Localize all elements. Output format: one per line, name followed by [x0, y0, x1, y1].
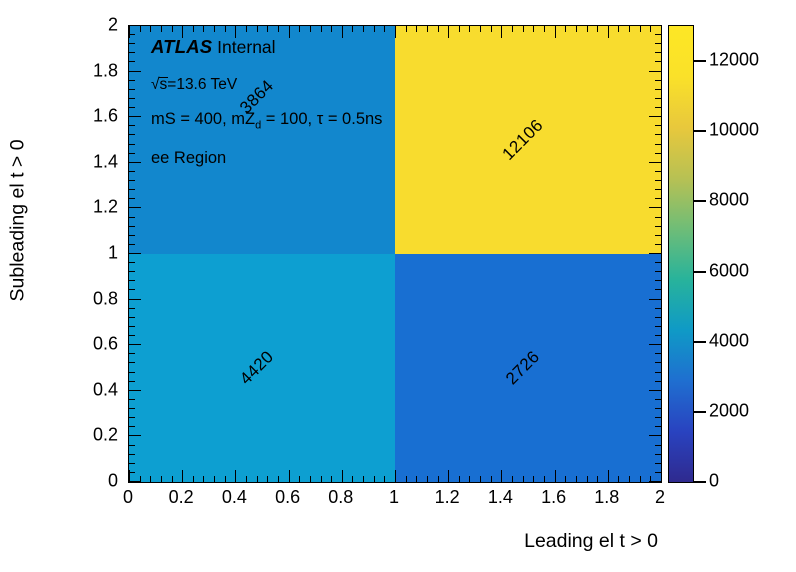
tick-mark	[129, 390, 141, 391]
tick-mark	[480, 26, 481, 32]
tick-mark	[129, 26, 130, 38]
tick-mark	[533, 26, 534, 32]
tick-mark	[129, 180, 135, 181]
tick-mark	[618, 26, 619, 32]
tick-mark	[129, 34, 135, 35]
x-tick-label: 1	[389, 487, 399, 508]
tick-mark	[655, 198, 661, 199]
tick-mark	[129, 308, 135, 309]
tick-mark	[565, 476, 566, 482]
tick-mark	[416, 26, 417, 32]
colorbar-tick-label: 8000	[709, 190, 749, 211]
tick-mark	[129, 435, 141, 436]
tick-mark	[225, 476, 226, 482]
tick-mark	[129, 417, 135, 418]
y-tick-label: 0.4	[0, 379, 118, 400]
x-tick-label: 0.4	[222, 487, 247, 508]
tick-mark	[655, 372, 661, 373]
x-tick-label: 1.2	[435, 487, 460, 508]
tick-mark	[618, 476, 619, 482]
x-tick-label: 1.8	[594, 487, 619, 508]
tick-mark	[655, 134, 661, 135]
tick-mark	[655, 226, 661, 227]
tick-mark	[374, 26, 375, 32]
tick-mark	[469, 476, 470, 482]
tick-mark	[129, 362, 135, 363]
tick-mark	[655, 399, 661, 400]
tick-mark	[150, 476, 151, 482]
tick-mark	[193, 26, 194, 32]
tick-mark	[597, 476, 598, 482]
y-tick-label: 0.6	[0, 334, 118, 355]
tick-mark	[576, 26, 577, 32]
tick-mark	[406, 26, 407, 32]
tick-mark	[649, 435, 661, 436]
tick-mark	[649, 207, 661, 208]
tick-mark	[310, 476, 311, 482]
tick-mark	[655, 335, 661, 336]
tick-mark	[129, 134, 135, 135]
tick-mark	[182, 26, 183, 38]
tick-mark	[321, 476, 322, 482]
tick-mark	[655, 125, 661, 126]
tick-mark	[129, 153, 135, 154]
tick-mark	[427, 476, 428, 482]
tick-mark	[655, 80, 661, 81]
tick-mark	[129, 372, 135, 373]
tick-mark	[150, 26, 151, 32]
tick-mark	[649, 71, 661, 72]
heatmap-cell-value: 4420	[236, 347, 278, 389]
tick-mark	[655, 34, 661, 35]
tick-mark	[655, 89, 661, 90]
tick-mark	[649, 344, 661, 345]
tick-mark	[501, 470, 502, 482]
colorbar-tick-mark	[694, 481, 706, 483]
tick-mark	[129, 289, 135, 290]
tick-mark	[310, 26, 311, 32]
tick-mark	[235, 26, 236, 38]
tick-mark	[512, 476, 513, 482]
tick-mark	[267, 476, 268, 482]
region-label: ee Region	[151, 150, 451, 167]
tick-mark	[587, 26, 588, 32]
tick-mark	[129, 207, 141, 208]
atlas-internal-text: Internal	[217, 37, 275, 57]
tick-mark	[363, 26, 364, 32]
tick-mark	[172, 476, 173, 482]
tick-mark	[129, 463, 135, 464]
sqrt-icon: √s	[151, 76, 167, 93]
energy-label: √s=13.6 TeV	[151, 76, 451, 93]
tick-mark	[655, 445, 661, 446]
colorbar-tick-mark	[694, 200, 706, 202]
tick-mark	[629, 476, 630, 482]
tick-mark	[655, 144, 661, 145]
plot-frame: 3864 12106 4420 2726 ATLAS Internal √s=1…	[128, 25, 662, 483]
tick-mark	[129, 71, 141, 72]
tick-mark	[655, 43, 661, 44]
energy-value: =13.6 TeV	[167, 76, 237, 93]
tick-mark	[129, 226, 135, 227]
tick-mark	[640, 476, 641, 482]
tick-mark	[523, 476, 524, 482]
tick-mark	[129, 217, 135, 218]
tick-mark	[655, 417, 661, 418]
tick-mark	[459, 26, 460, 32]
heatmap-cell-bottom-left[interactable]: 4420	[129, 254, 395, 482]
tick-mark	[655, 463, 661, 464]
tick-mark	[129, 198, 135, 199]
tick-mark	[129, 80, 135, 81]
tick-mark	[395, 26, 396, 38]
tick-mark	[257, 476, 258, 482]
tick-mark	[655, 180, 661, 181]
tick-mark	[655, 308, 661, 309]
colorbar-tick-label: 0	[709, 471, 719, 492]
region-text: ee Region	[151, 149, 226, 167]
tick-mark	[655, 61, 661, 62]
tick-mark	[129, 299, 141, 300]
heatmap-cell-value: 2726	[502, 347, 544, 389]
tick-mark	[655, 362, 661, 363]
y-tick-label: 0.2	[0, 425, 118, 446]
tick-mark	[363, 476, 364, 482]
params-equals-text: = 100,	[261, 110, 317, 128]
colorbar-tick-mark	[694, 130, 706, 132]
tick-mark	[129, 335, 135, 336]
atlas-bold-text: ATLAS	[151, 36, 212, 57]
tick-mark	[406, 476, 407, 482]
tick-mark	[427, 26, 428, 32]
tick-mark	[459, 476, 460, 482]
tick-mark	[161, 476, 162, 482]
tick-mark	[129, 472, 135, 473]
tick-mark	[555, 470, 556, 482]
tick-mark	[331, 26, 332, 32]
tick-mark	[555, 26, 556, 38]
tick-mark	[374, 476, 375, 482]
tick-mark	[533, 476, 534, 482]
tick-mark	[203, 476, 204, 482]
tick-mark	[576, 476, 577, 482]
tick-mark	[203, 26, 204, 32]
tick-mark	[655, 426, 661, 427]
tick-mark	[246, 26, 247, 32]
tick-mark	[140, 26, 141, 32]
tick-mark	[235, 470, 236, 482]
x-tick-label: 1.6	[541, 487, 566, 508]
tick-mark	[172, 26, 173, 32]
tick-mark	[608, 26, 609, 38]
tick-mark	[342, 470, 343, 482]
tick-mark	[448, 26, 449, 38]
tick-mark	[129, 481, 141, 482]
tick-mark	[257, 26, 258, 32]
tick-mark	[278, 476, 279, 482]
tick-mark	[655, 52, 661, 53]
tick-mark	[491, 476, 492, 482]
tick-mark	[342, 26, 343, 38]
tick-mark	[655, 262, 661, 263]
tick-mark	[649, 162, 661, 163]
colorbar-tick-label: 2000	[709, 400, 749, 421]
tick-mark	[655, 289, 661, 290]
colorbar-tick-label: 4000	[709, 330, 749, 351]
colorbar-tick-label: 6000	[709, 260, 749, 281]
x-tick-label: 2	[655, 487, 665, 508]
tick-mark	[655, 171, 661, 172]
tick-mark	[129, 317, 135, 318]
colorbar-tick-mark	[694, 271, 706, 273]
tick-mark	[649, 299, 661, 300]
tick-mark	[129, 280, 135, 281]
tick-mark	[129, 381, 135, 382]
tick-mark	[129, 408, 135, 409]
tick-mark	[129, 171, 135, 172]
tick-mark	[129, 144, 135, 145]
y-axis-title: Subleading el t > 0	[7, 2, 30, 302]
tick-mark	[267, 26, 268, 32]
tick-mark	[299, 476, 300, 482]
tick-mark	[655, 244, 661, 245]
tick-mark	[655, 98, 661, 99]
tick-mark	[129, 235, 135, 236]
tick-mark	[438, 476, 439, 482]
tick-mark	[214, 476, 215, 482]
tick-mark	[608, 470, 609, 482]
tick-mark	[384, 476, 385, 482]
tick-mark	[182, 470, 183, 482]
colorbar-tick-mark	[694, 411, 706, 413]
atlas-label: ATLAS Internal	[151, 38, 451, 57]
tick-mark	[512, 26, 513, 32]
tick-mark	[655, 326, 661, 327]
signal-params-label: mS = 400, mZd = 100, τ = 0.5ns	[151, 111, 451, 131]
tick-mark	[331, 476, 332, 482]
tick-mark	[129, 353, 135, 354]
tick-mark	[650, 26, 651, 32]
x-tick-label: 0	[123, 487, 133, 508]
colorbar-gradient	[669, 26, 693, 482]
tick-mark	[655, 107, 661, 108]
tick-mark	[129, 326, 135, 327]
tick-mark	[129, 244, 135, 245]
tick-mark	[649, 481, 661, 482]
heatmap-cell-bottom-right[interactable]: 2726	[395, 254, 661, 482]
params-mass-text: mS = 400, mZ	[151, 110, 255, 128]
tick-mark	[655, 235, 661, 236]
tick-mark	[193, 476, 194, 482]
tick-mark	[129, 271, 135, 272]
tick-mark	[655, 353, 661, 354]
plot-annotations: ATLAS Internal √s=13.6 TeV mS = 400, mZd…	[151, 38, 451, 167]
tick-mark	[225, 26, 226, 32]
colorbar-tick-mark	[694, 341, 706, 343]
tick-mark	[501, 26, 502, 38]
tick-mark	[448, 470, 449, 482]
tick-mark	[129, 107, 135, 108]
tick-mark	[480, 476, 481, 482]
tick-mark	[321, 26, 322, 32]
tick-mark	[384, 26, 385, 32]
tick-mark	[129, 125, 135, 126]
tick-mark	[640, 26, 641, 32]
tick-mark	[129, 445, 135, 446]
tick-mark	[129, 52, 135, 53]
y-tick-label: 0	[0, 471, 118, 492]
tick-mark	[129, 89, 135, 90]
tick-mark	[129, 344, 141, 345]
tick-mark	[544, 26, 545, 32]
tick-mark	[129, 116, 141, 117]
tick-mark	[395, 470, 396, 482]
x-tick-label: 0.2	[169, 487, 194, 508]
tick-mark	[246, 476, 247, 482]
tick-mark	[129, 61, 135, 62]
tick-mark	[289, 26, 290, 38]
tick-mark	[655, 381, 661, 382]
tick-mark	[352, 476, 353, 482]
tick-mark	[299, 26, 300, 32]
tick-mark	[544, 476, 545, 482]
tick-mark	[469, 26, 470, 32]
colorbar	[668, 25, 694, 483]
heatmap-cell-value: 12106	[498, 116, 547, 165]
tick-mark	[655, 189, 661, 190]
tick-mark	[587, 476, 588, 482]
colorbar-tick-mark	[694, 60, 706, 62]
tick-mark	[655, 408, 661, 409]
x-tick-label: 0.8	[328, 487, 353, 508]
tick-mark	[523, 26, 524, 32]
tick-mark	[129, 43, 135, 44]
tick-mark	[655, 317, 661, 318]
tick-mark	[655, 280, 661, 281]
colorbar-tick-label: 12000	[709, 50, 759, 71]
sqrt-s-symbol: s	[160, 76, 168, 93]
x-tick-label: 0.6	[275, 487, 300, 508]
tick-mark	[129, 399, 135, 400]
tick-mark	[649, 116, 661, 117]
tick-mark	[161, 26, 162, 32]
x-tick-label: 1.4	[488, 487, 513, 508]
tick-mark	[352, 26, 353, 32]
x-axis-title: Leading el t > 0	[0, 530, 680, 553]
tick-mark	[129, 98, 135, 99]
tick-mark	[655, 153, 661, 154]
params-lifetime-text: = 0.5ns	[323, 110, 382, 128]
tick-mark	[129, 454, 135, 455]
tick-mark	[655, 271, 661, 272]
tick-mark	[629, 26, 630, 32]
tick-mark	[655, 217, 661, 218]
tick-mark	[649, 253, 661, 254]
tick-mark	[416, 476, 417, 482]
tick-mark	[214, 26, 215, 32]
tick-mark	[649, 390, 661, 391]
tick-mark	[129, 162, 141, 163]
tick-mark	[655, 454, 661, 455]
tick-mark	[565, 26, 566, 32]
colorbar-tick-label: 10000	[709, 120, 759, 141]
tick-mark	[491, 26, 492, 32]
tick-mark	[438, 26, 439, 32]
tick-mark	[278, 26, 279, 32]
tick-mark	[129, 262, 135, 263]
tick-mark	[129, 426, 135, 427]
tick-mark	[597, 26, 598, 32]
tick-mark	[129, 189, 135, 190]
tick-mark	[289, 470, 290, 482]
tick-mark	[129, 253, 141, 254]
tick-mark	[655, 472, 661, 473]
